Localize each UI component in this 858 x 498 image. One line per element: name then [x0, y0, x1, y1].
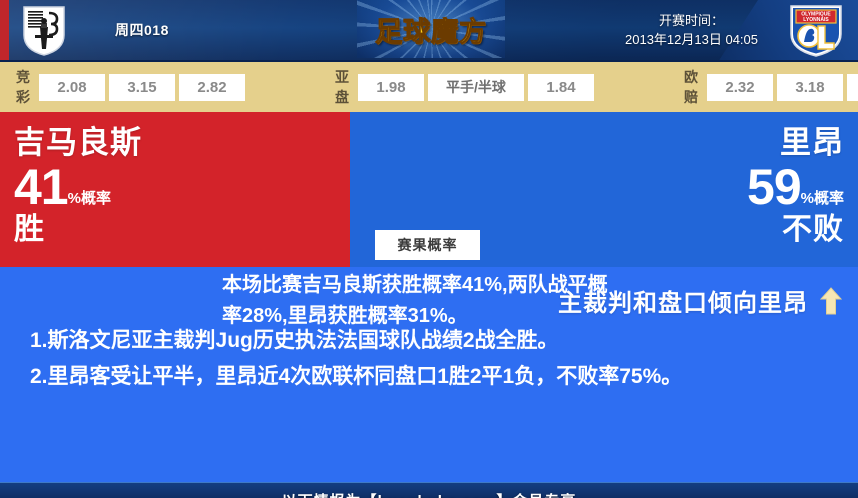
tab-result-probability[interactable]: 赛果概率	[375, 230, 480, 260]
odds-cell-draw[interactable]: 3.15	[109, 74, 175, 101]
brand-banner: 足球魔方	[357, 0, 505, 58]
arrow-up-icon	[820, 287, 842, 315]
footer-bar: 以下情报为【huanhuba.com】会员专享	[0, 482, 858, 498]
odds-cell-home[interactable]: 2.08	[39, 74, 105, 101]
odds-cell-away[interactable]: 2.82	[179, 74, 245, 101]
kickoff-value: 2013年12月13日 04:05	[625, 30, 758, 49]
away-probability-value-row: 59 %概率	[747, 163, 844, 211]
odds-bar: 竞彩 2.08 3.15 2.82 亚盘 1.98 平手/半球 1.84 欧赔 …	[0, 62, 858, 112]
odds-group-european: 欧赔 2.32 3.18 2.95	[684, 67, 858, 107]
away-team-logo: OLYMPIQUE LYONNAIS	[788, 4, 844, 58]
odds-cell-home[interactable]: 1.98	[358, 74, 424, 101]
odds-cell-draw[interactable]: 3.18	[777, 74, 843, 101]
home-probability-unit: %概率	[68, 191, 111, 211]
home-probability-value-row: 41 %概率	[14, 163, 142, 211]
svg-text:LYONNAIS: LYONNAIS	[803, 17, 829, 23]
list-item: 2.里昂客受让平半，里昂近4次欧联杯同盘口1胜2平1负，不败率75%。	[30, 359, 836, 395]
brand-title: 足球魔方	[375, 10, 487, 49]
odds-group-label: 竞彩	[16, 67, 31, 107]
kickoff-label: 开赛时间：	[625, 11, 758, 30]
odds-group-asian: 亚盘 1.98 平手/半球 1.84	[335, 67, 598, 107]
away-probability-unit: %概率	[801, 191, 844, 211]
footer-text: 以下情报为【huanhuba.com】会员专享	[282, 490, 577, 498]
header-bottom-rule	[0, 60, 858, 62]
odds-cell-away[interactable]: 1.84	[528, 74, 594, 101]
home-probability-value: 41	[14, 163, 68, 211]
home-team-name: 吉马良斯	[14, 126, 142, 160]
odds-group-label: 欧赔	[684, 67, 699, 107]
away-team-name: 里昂	[747, 126, 844, 160]
round-label: 周四018	[115, 20, 169, 40]
analysis-list: 1.斯洛文尼亚主裁判Jug历史执法法国球队战绩2战全胜。 2.里昂客受让平半，里…	[30, 323, 836, 395]
home-probability-outcome: 胜	[14, 213, 142, 247]
away-probability-value: 59	[747, 163, 801, 211]
away-probability-outcome: 不败	[747, 213, 844, 247]
probability-summary: 本场比赛吉马良斯获胜概率41%,两队战平概率28%,里昂获胜概率31%。	[222, 270, 622, 332]
odds-cell-handicap[interactable]: 平手/半球	[428, 74, 524, 101]
footer-top-rule	[0, 482, 858, 483]
home-team-logo	[22, 5, 66, 57]
odds-group-label: 亚盘	[335, 67, 350, 107]
kickoff-block: 开赛时间： 2013年12月13日 04:05	[625, 11, 758, 49]
away-probability-block: 里昂 59 %概率 不败	[747, 126, 844, 247]
odds-group-jingcai: 竞彩 2.08 3.15 2.82	[16, 67, 249, 107]
probability-row: 赛果概率 吉马良斯 41 %概率 胜 里昂 59 %概率 不败 本场比赛吉马良斯…	[0, 112, 858, 267]
header: 周四018 足球魔方 开赛时间： 2013年12月13日 04:05 OLYMP…	[0, 0, 858, 62]
home-probability-block: 吉马良斯 41 %概率 胜	[14, 126, 142, 247]
odds-cell-away[interactable]: 2.95	[847, 74, 858, 101]
header-red-accent	[0, 0, 9, 62]
tab-label: 赛果概率	[398, 235, 458, 255]
odds-cell-home[interactable]: 2.32	[707, 74, 773, 101]
match-preview-card: 周四018 足球魔方 开赛时间： 2013年12月13日 04:05 OLYMP…	[0, 0, 858, 498]
